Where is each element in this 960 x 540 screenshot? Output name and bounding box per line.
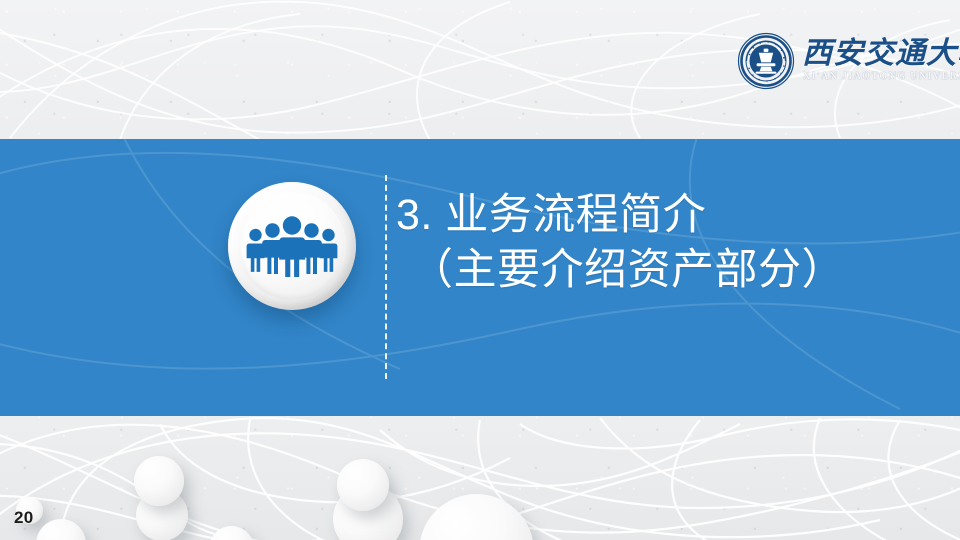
slide-canvas: 3. 业务流程简介 （主要介绍资产部分） [0,0,960,540]
section-icon-badge [228,182,356,310]
logo-name-cn: 西安交通大學 [802,39,960,69]
logo-wordmark: 西安交通大學 XI'AN JIAOTONG UNIVERSITY [802,39,960,83]
section-title-line-1: 3. 业务流程简介 [396,190,926,241]
group-people-icon [246,215,338,277]
section-title-line-2: （主要介绍资产部分） [396,245,926,296]
badge-inner-disc [238,192,346,300]
university-logo: 西安交通大學 XI'AN JIAOTONG UNIVERSITY [737,28,955,94]
section-title: 3. 业务流程简介 （主要介绍资产部分） [396,190,926,295]
university-seal-icon [737,32,795,90]
vertical-dashed-divider [385,175,387,379]
decor-sphere [337,459,389,511]
logo-name-en: XI'AN JIAOTONG UNIVERSITY [803,72,960,83]
decor-sphere [134,456,184,506]
page-number: 20 [14,508,34,528]
